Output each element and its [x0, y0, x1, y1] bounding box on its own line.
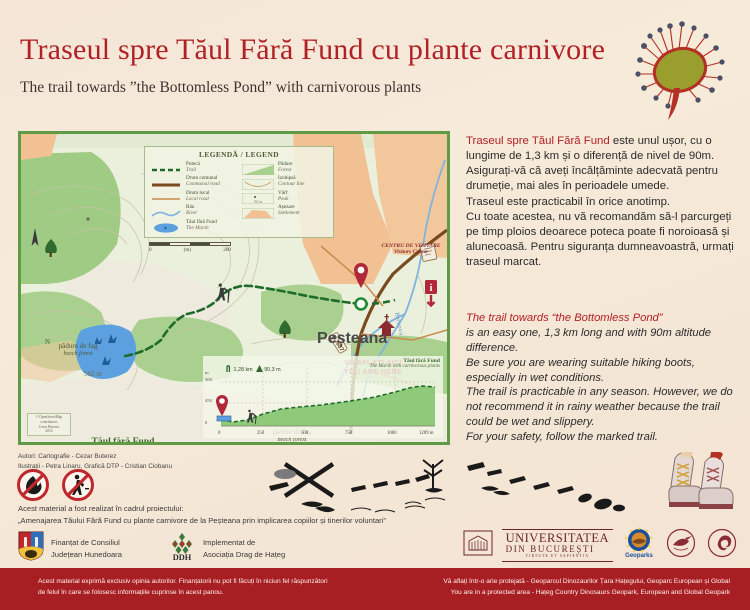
- legend-label-en: Forest: [278, 168, 292, 174]
- trail-symbol-icon: [150, 162, 182, 173]
- no-fire-icon: [16, 468, 50, 507]
- footer-right-line-1: Vă aflați într-o arie protejată - Geopar…: [443, 577, 730, 588]
- legend-label-en: River: [186, 211, 197, 217]
- description-english: The trail towards “the Bottomless Pond” …: [466, 311, 741, 445]
- profile-x-tick-500: 500: [301, 431, 308, 436]
- funders-row: Finanțat de Consiliul Județean Hunedoara…: [18, 531, 285, 566]
- description-romanian: Traseul spre Tăul Fără Fund este unul uș…: [466, 134, 741, 270]
- compass-label: N: [45, 338, 50, 346]
- profile-x-tick-0: 0: [218, 431, 220, 436]
- legend-item-marsh: Tăul fără FundThe Marsh: [150, 220, 236, 232]
- map-legend: LEGENDĂ / LEGEND PotecăTrail Drum comuna…: [144, 146, 334, 238]
- no-littering-icon: [61, 468, 95, 507]
- visitors-center-label: CENTRU DE VIZITAREVisitors Center: [361, 243, 450, 256]
- svg-text:DDH: DDH: [173, 553, 192, 561]
- legend-item-settlement: AșezareSettlement: [242, 205, 328, 217]
- scalebar-unit: (m): [184, 247, 192, 253]
- partner-logos: UNIVERSITATEA DIN BUCUREȘTI VIRTUTE ET S…: [463, 527, 738, 564]
- trail-map[interactable]: i DJ687 LEGENDĂ / LEGEND: [18, 131, 450, 445]
- page-title: Traseul spre Tăul Fără Fund cu plante ca…: [20, 33, 605, 67]
- map-label-settlement: Peșteana: [317, 330, 387, 348]
- footer-left-line-1: Acest material exprimă exclusiv opinia a…: [38, 577, 328, 588]
- page-subtitle: The trail towards ”the Bottomless Pond” …: [20, 79, 421, 97]
- peak-symbol-icon: 562 m: [242, 191, 274, 202]
- project-description: Acest material a fost realizat în cadrul…: [18, 503, 386, 527]
- legend-column-left: PotecăTrail Drum comunalCommunal road Dr…: [150, 162, 236, 234]
- footer-bar: Acest material exprimă exclusiv opinia a…: [0, 568, 750, 610]
- funder1-line1: Finanțat de Consiliul: [51, 538, 120, 547]
- profile-x-tick-end: 1289 m: [419, 431, 434, 436]
- svg-text:i: i: [430, 283, 433, 294]
- description-en-highlight: The trail towards “the Bottomless Pond”: [466, 312, 663, 324]
- funder-drag-de-hateg: DDH Implementat de Asociația Drag de Haț…: [168, 531, 285, 566]
- legend-item-river: RâuRiver: [150, 205, 236, 217]
- funder-hunedoara: Finanțat de Consiliul Județean Hunedoara: [18, 531, 122, 566]
- svg-text:562 m: 562 m: [254, 200, 263, 204]
- legend-label-en: Peak: [278, 197, 288, 203]
- peak-elevation-label: 562 m: [69, 370, 117, 378]
- legend-label-en: The Marsh: [186, 226, 217, 232]
- project-line-1: Acest material a fost realizat în cadrul…: [18, 503, 386, 515]
- hunedoara-coat-of-arms-icon: [18, 531, 44, 566]
- profile-x-tick-750: 750: [345, 431, 352, 436]
- svg-text:Geoparks: Geoparks: [625, 553, 653, 559]
- local-road-symbol-icon: [150, 191, 182, 202]
- legend-item-forest: PădureForest: [242, 162, 328, 174]
- geoparks-logo-icon: Geoparks: [622, 527, 656, 564]
- communal-road-symbol-icon: [150, 177, 182, 188]
- legend-item-local-road: Drum localLocal road: [150, 191, 236, 203]
- drag-de-hateg-logo-icon: DDH: [168, 531, 196, 566]
- university-name: UNIVERSITATEA DIN BUCUREȘTI VIRTUTE ET S…: [502, 529, 613, 561]
- funder2-line2: Asociația Drag de Hațeg: [203, 550, 285, 559]
- description-en-body: is an easy one, 1,3 km long and with 90m…: [466, 327, 733, 443]
- footer-disclaimer: Acest material exprimă exclusiv opinia a…: [38, 577, 328, 599]
- forest-symbol-icon: [242, 162, 274, 173]
- map-scalebar: 0 (m) 200: [149, 242, 231, 253]
- university-seal-icon: [463, 528, 493, 563]
- legend-label-en: Settlement: [278, 211, 300, 217]
- scalebar-bar: [149, 242, 231, 246]
- prohibition-signs: [16, 468, 95, 507]
- description-ro-highlight: Traseul spre Tăul Fără Fund: [466, 135, 610, 147]
- dinosaur-circular-logo-icon: [706, 528, 738, 563]
- legend-label-en: Communal road: [186, 182, 220, 188]
- scalebar-max: 200: [223, 247, 231, 253]
- hateg-geopark-seal-icon: [665, 528, 697, 563]
- description-ro-body: este unul ușor, cu o lungime de 1,3 km ș…: [466, 135, 734, 268]
- header: Traseul spre Tăul Fără Fund cu plante ca…: [0, 0, 750, 118]
- legend-item-trail: PotecăTrail: [150, 162, 236, 174]
- project-line-2: „Amenajarea Tăului Fără Fund cu plante c…: [18, 515, 386, 527]
- legend-item-peak: 562 m VârfPeak: [242, 191, 328, 203]
- scalebar-min: 0: [149, 247, 152, 253]
- profile-svg: [203, 356, 443, 438]
- legend-label-en: Contour line: [278, 182, 304, 188]
- footer-right-line-2: You are in a protected area - Hațeg Coun…: [443, 588, 730, 599]
- forest-label-west: pădure de fagbeech forest: [41, 342, 115, 358]
- sundew-plant-icon: [624, 16, 742, 124]
- legend-item-communal-road: Drum comunalCommunal road: [150, 176, 236, 188]
- profile-x-tick-1000: 1000: [387, 431, 397, 436]
- funder2-line1: Implementat de: [203, 538, 255, 547]
- river-symbol-icon: [150, 206, 182, 217]
- legend-label-en: Local road: [186, 197, 209, 203]
- legend-title: LEGENDĂ / LEGEND: [145, 150, 333, 159]
- legend-item-contour: IzohipsăContour line: [242, 176, 328, 188]
- map-copyright: © OpenStreetMap contributors Cezar Buter…: [27, 413, 71, 436]
- footer-protected-area: Vă aflați într-o arie protejată - Geopar…: [443, 577, 730, 599]
- elevation-profile-chart: Tăul fără FundThe Marsh with carnivorous…: [203, 356, 443, 438]
- marsh-symbol-icon: [150, 220, 182, 231]
- settlement-symbol-icon: [242, 206, 274, 217]
- legend-label-ro: Tăul fără Fund: [186, 219, 217, 225]
- university-motto: VIRTUTE ET SAPIENTIA: [506, 555, 609, 559]
- legend-label-ro: Vârf: [278, 190, 288, 196]
- funder1-line2: Județean Hunedoara: [51, 550, 122, 559]
- legend-label-ro: Drum local: [186, 190, 209, 196]
- marsh-label: Tăul fără FundThe Marsh with carnivorous…: [53, 436, 193, 445]
- legend-label-en: Trail: [186, 168, 200, 174]
- legend-column-right: PădureForest IzohipsăContour line 562 m …: [242, 162, 328, 234]
- profile-x-tick-250: 250: [257, 431, 264, 436]
- authors-line-1: Autori: Cartografie - Cezar Buterez: [18, 452, 172, 462]
- footer-left-line-2: de felul în care se folosesc informațiil…: [38, 588, 328, 599]
- contour-symbol-icon: [242, 177, 274, 188]
